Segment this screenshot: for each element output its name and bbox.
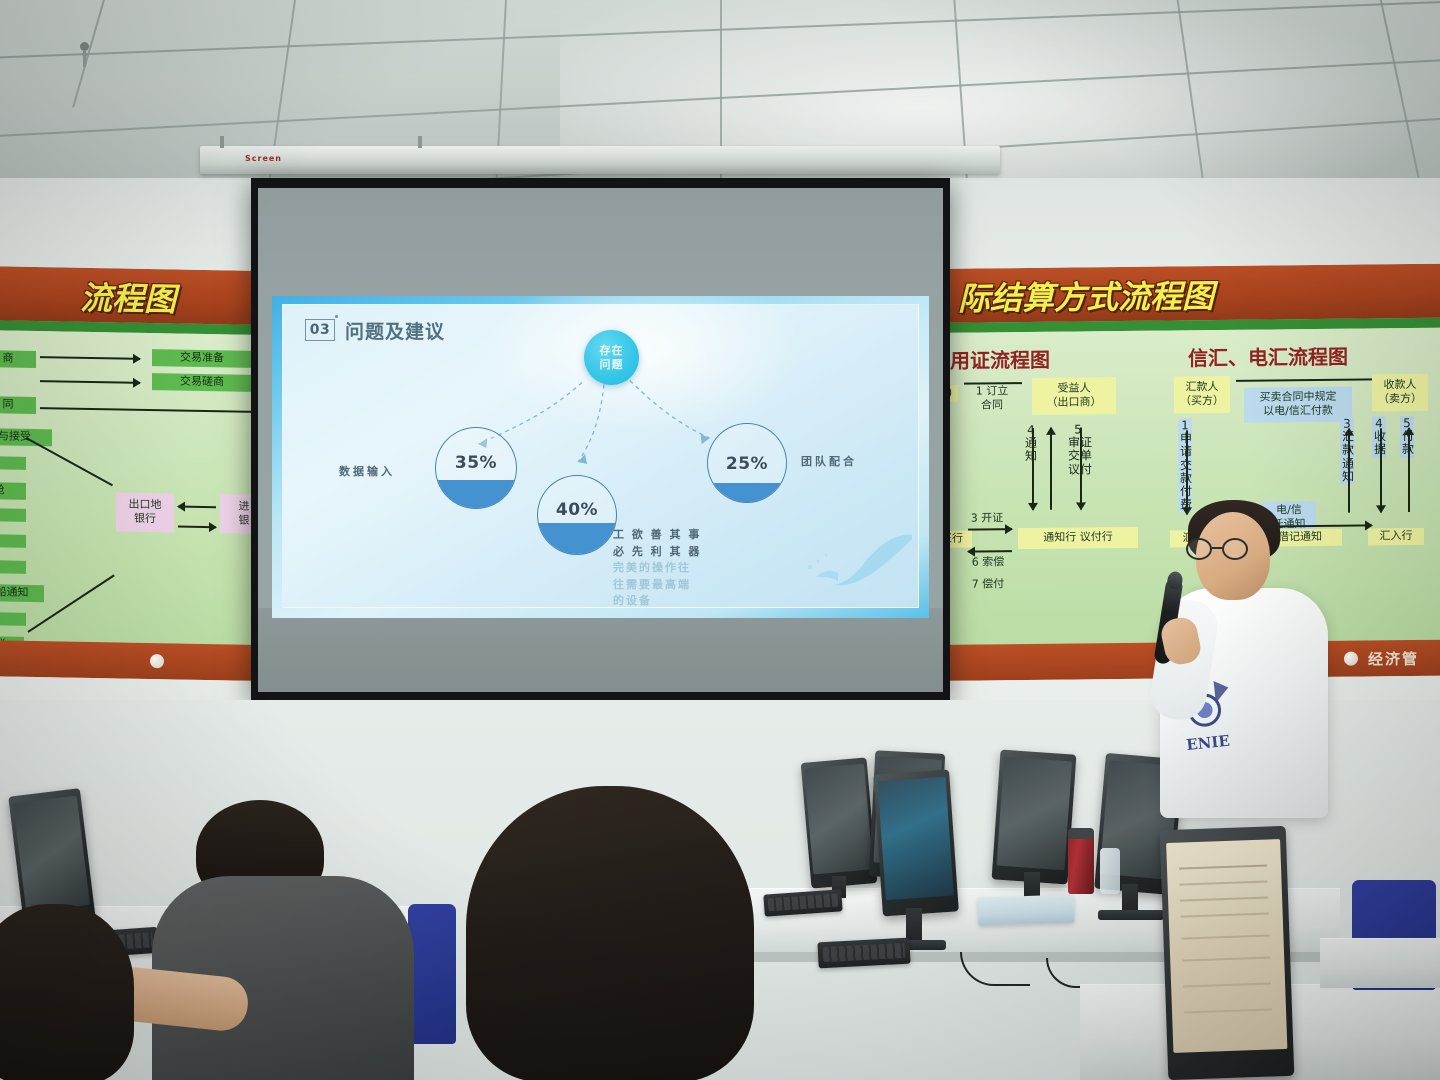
poster-node: 出口地银行 [116, 492, 174, 532]
chair-icon[interactable] [408, 904, 456, 1044]
gauge-circle-2[interactable]: 40% [537, 475, 617, 555]
gauge-value-1: 35% [455, 453, 497, 473]
svg-text:ENIE: ENIE [1185, 732, 1230, 754]
hook-icon [220, 136, 224, 148]
poster-node: 汇款人（买方） [1174, 376, 1230, 413]
circle-logo-icon [1344, 652, 1358, 666]
poster-node: 收款人（卖方） [1372, 374, 1428, 411]
papers-stack[interactable] [978, 894, 1075, 925]
whale-icon [794, 527, 914, 601]
poster-subtitle: 用证流程图 [950, 344, 1050, 374]
quote-block: 工 欲 善 其 事 必 先 利 其 器 完美的操作往 往需要最高端 的设备 [613, 527, 701, 610]
gauge-value-2: 40% [556, 500, 598, 520]
poster-node: 通知行 议付行 [1018, 527, 1138, 549]
screen-blank-bottom [258, 608, 943, 692]
poster-node: 同 [0, 396, 36, 414]
poster-arrow [178, 506, 216, 509]
quote-line-5: 的设备 [613, 593, 701, 610]
poster-arrow [40, 356, 140, 360]
hub-line-1: 存在 [600, 344, 624, 358]
monitor-screen [804, 764, 872, 875]
gauge-fill-1 [436, 480, 516, 508]
monitor-icon[interactable] [873, 770, 959, 917]
classroom-scene: 流程图 商 交易准备 交易磋商 同 发与接受 舱 送装船通知 退税 出口地银行 … [0, 0, 1440, 1080]
poster-node: 汇入行 [1368, 528, 1424, 545]
screen-blank-top [258, 188, 943, 296]
monitor-icon[interactable] [1160, 826, 1295, 1080]
hub-circle[interactable]: 存在 问题 [584, 330, 639, 385]
monitor-screen-document [1166, 839, 1287, 1053]
slide-number-dot-icon [335, 315, 338, 318]
gauge-label-1: 数据输入 [339, 463, 395, 479]
monitor-screen-active [877, 777, 954, 901]
monitor-icon[interactable] [992, 750, 1077, 885]
poster-arrow [40, 380, 140, 384]
student-head [466, 786, 754, 1080]
quote-line-4: 往需要最高端 [613, 577, 701, 594]
poster-node: 6 索偿 [962, 554, 1014, 571]
poster-footer-text: 经济管 [1368, 647, 1419, 669]
poster-node: 1 订立合同 [964, 382, 1020, 414]
projector-screen[interactable]: 03 问题及建议 存在 问题 [251, 178, 950, 700]
poster-left-title: 流程图 [0, 267, 260, 325]
gauge-fill-2 [538, 523, 616, 554]
slide-section-number: 03 [305, 319, 335, 341]
gauge-label-3: 团队配合 [801, 453, 857, 469]
poster-node: 交易磋商 [152, 373, 252, 391]
poster-node: 买卖合同中规定以电/信汇付款 [1244, 387, 1352, 423]
desk-far-right [1320, 938, 1440, 988]
monitor-icon[interactable] [801, 757, 878, 888]
circle-logo-icon [150, 654, 164, 668]
hook-icon [418, 136, 422, 148]
housing-brand-label: Screen [245, 154, 282, 163]
quote-line-1: 工 欲 善 其 事 [613, 527, 701, 544]
keyboard-icon[interactable] [817, 938, 910, 969]
poster-node: 商 [0, 350, 36, 368]
poster-arrow [178, 526, 216, 529]
slide[interactable]: 03 问题及建议 存在 问题 [272, 296, 929, 618]
poster-node: 舱 [0, 482, 26, 500]
slide-title: 问题及建议 [345, 317, 445, 344]
slide-glow [483, 296, 803, 435]
projector-screen-housing[interactable]: Screen [200, 146, 1000, 174]
quote-line-3: 完美的操作往 [613, 560, 701, 577]
bottle-icon[interactable] [1100, 848, 1120, 894]
poster-right-title: 际结算方式流程图 [940, 265, 1440, 323]
poster-subtitle: 信汇、电汇流程图 [1188, 341, 1348, 372]
gauge-fill-3 [708, 483, 786, 503]
monitor-screen [13, 795, 91, 913]
poster-node: 7 偿付 [962, 576, 1014, 593]
hub-line-2: 问题 [600, 358, 624, 372]
glasses-icon [1186, 538, 1252, 560]
screen-surface: 03 问题及建议 存在 问题 [258, 188, 943, 692]
sprinkler-icon [80, 42, 89, 51]
quote-line-2: 必 先 利 其 器 [613, 544, 701, 561]
poster-node: 送装船通知 [0, 584, 44, 602]
poster-node: 受益人（出口商） [1032, 377, 1116, 414]
thermos-icon[interactable] [1068, 828, 1094, 894]
poster-left: 流程图 商 交易准备 交易磋商 同 发与接受 舱 送装船通知 退税 出口地银行 … [0, 265, 260, 681]
gauge-value-3: 25% [726, 454, 768, 474]
slide-inner-panel: 03 问题及建议 存在 问题 [282, 304, 919, 608]
gauge-circle-3[interactable]: 25% [707, 423, 787, 503]
monitor-screen [996, 756, 1072, 870]
poster-node: 交易准备 [152, 349, 252, 367]
student-head [0, 904, 134, 1080]
gauge-circle-1[interactable]: 35% [435, 427, 517, 509]
